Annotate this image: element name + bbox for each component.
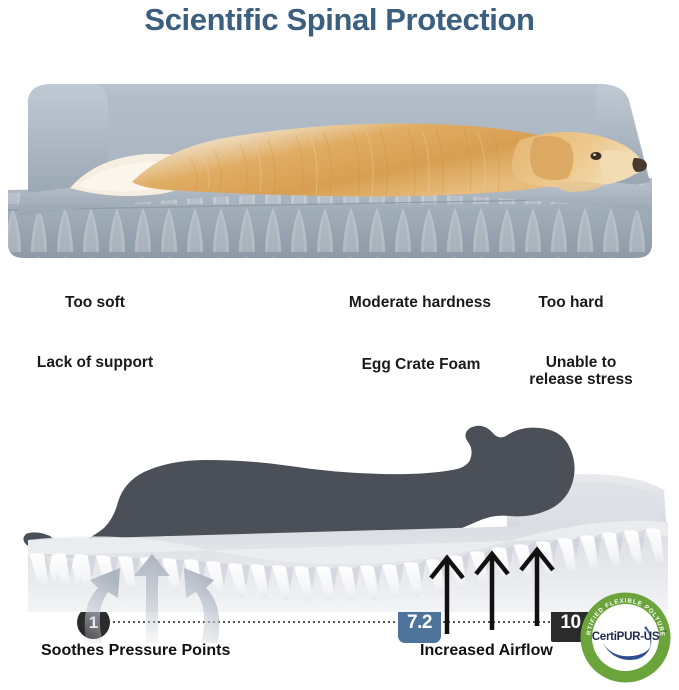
certipur-brand-text: CertiPUR-US [592,630,660,643]
scale-middle-bottom-label: Egg Crate Foam [340,356,502,373]
scale-right-top-label: Too hard [510,294,632,311]
page-title: Scientific Spinal Protection [0,2,679,38]
infographic-page: Scientific Spinal Protection [0,0,679,686]
scale-right-bottom-line1: Unable to [546,354,617,371]
hardness-scale: Too soft 1 Lack of support Moderate hard… [0,288,679,388]
scale-right-bottom-label: Unable to release stress [506,354,656,389]
caption-soothes-pressure-points: Soothes Pressure Points [41,642,230,660]
caption-increased-airflow: Increased Airflow [420,642,553,660]
scale-left-bottom-label: Lack of support [12,354,178,371]
scale-right-bottom-line2: release stress [529,371,632,388]
certipur-trademark: ™ [663,629,667,634]
certipur-us-logo: CONTAINS CERTIFIED FLEXIBLE POLYURETHANE… [578,590,673,685]
dog-bed-photo-illustration [0,62,679,267]
certipur-logo-svg: CONTAINS CERTIFIED FLEXIBLE POLYURETHANE… [578,590,673,685]
hero-product-photo [0,62,679,267]
scale-left-top-label: Too soft [36,294,154,311]
scale-middle-top-label: Moderate hardness [330,294,510,311]
